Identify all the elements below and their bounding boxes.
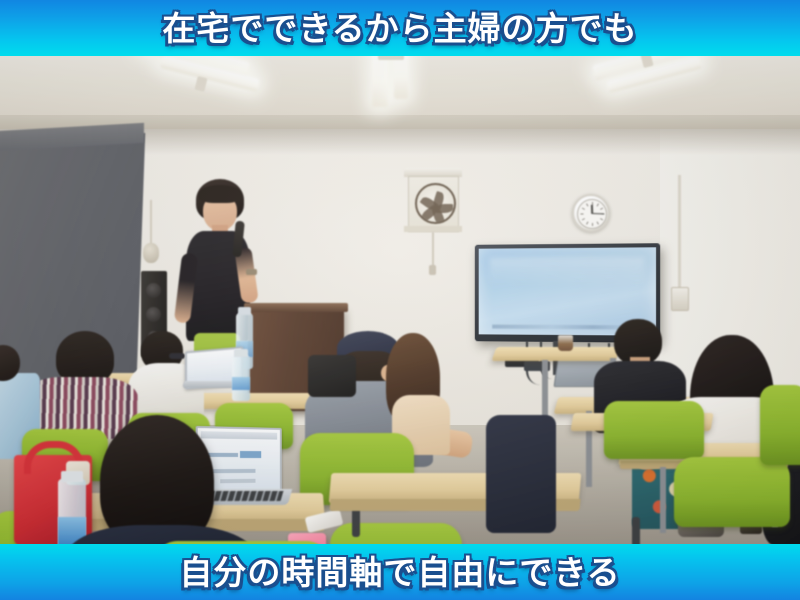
subtitle-text-top: 在宅でできるから主婦の方でも [162, 12, 637, 45]
chair-right-1 [604, 401, 704, 459]
water-bottle-back-cap [234, 349, 248, 357]
desk-right-near-leg [660, 467, 666, 533]
chair-right-2 [674, 457, 790, 527]
ceiling-light-center [372, 55, 388, 107]
wall-clock-face [577, 199, 607, 229]
attendee-seated-legs-right [486, 415, 556, 533]
clock-minute-hand [592, 213, 604, 215]
subtitle-text-bottom: 自分の時間軸で自由にできる [179, 556, 620, 589]
hanging-cord [150, 200, 152, 248]
presenter-watch [246, 269, 257, 275]
ventilation-fan [408, 176, 459, 232]
ventilation-fan-blades [415, 183, 456, 224]
seminar-room-photo [0, 55, 800, 545]
desk-back-right-leg [542, 360, 548, 422]
chair-far-right [760, 385, 800, 465]
ventilation-fan-cord [432, 232, 434, 268]
subtitle-banner-top: 在宅でできるから主婦の方でも [0, 0, 800, 56]
water-bottle-cap-center [238, 307, 251, 315]
wall-switch [671, 287, 689, 311]
display-text-line [492, 325, 626, 330]
wall-clock [572, 194, 610, 232]
attendee-white-shirt-glasses [169, 353, 185, 359]
ceiling-light-center-2 [394, 55, 408, 99]
subtitle-banner-bottom: 自分の時間軸で自由にできる [0, 544, 800, 600]
laptop-front-content-2 [240, 451, 261, 458]
laptop-front-content-1 [208, 453, 238, 457]
ventilation-fan-pull [429, 265, 436, 275]
podium-top [244, 303, 348, 312]
display-glare [489, 256, 645, 286]
water-bottle-back-label [232, 377, 250, 390]
video-frame: 在宅でできるから主婦の方でも [0, 0, 800, 600]
laptop-front-browser-bar [201, 431, 277, 439]
chair-leg-right [632, 517, 640, 545]
cup-back-right [558, 335, 573, 351]
laptop-front-content-4 [220, 479, 255, 484]
bag-behind-cap [308, 355, 356, 397]
wall-cable [678, 175, 681, 290]
laptop-front-content-3 [212, 469, 255, 473]
desk-back-right [491, 347, 620, 361]
presenter-fringe [198, 185, 242, 203]
chair-center-bottom [330, 523, 462, 545]
water-bottle-front-cap [61, 471, 83, 482]
hanging-object [143, 243, 159, 263]
